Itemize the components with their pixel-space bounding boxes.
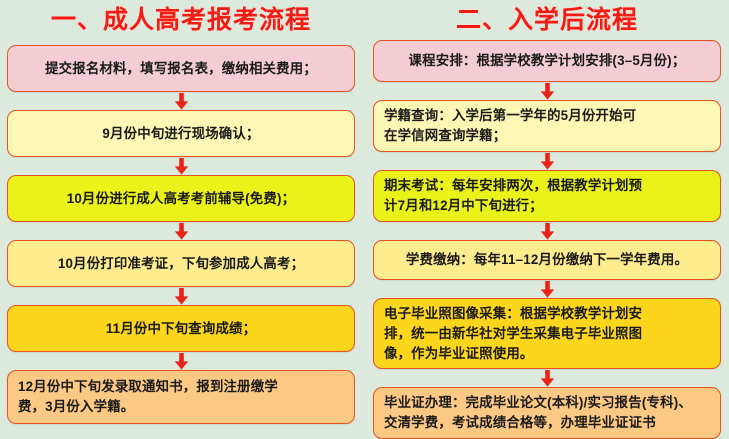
step-box-december-admission-notice: 12月份中下旬发录取通知书，报到注册缴学 费，3月份入学籍。 (7, 370, 355, 424)
step-box-september-onsite-confirmation: 9月份中旬进行现场确认； (7, 110, 355, 157)
flow-arrow-down-icon (373, 222, 721, 240)
flow-arrow-down-icon (373, 280, 721, 298)
flow-column-post-enrollment-process: 二、入学后流程课程安排：根据学校教学计划安排(3–5月份)；学籍查询：入学后第一… (364, 0, 728, 431)
step-box-october-pre-exam-tutoring: 10月份进行成人高考考前辅导(免费)； (7, 175, 355, 222)
flow-column-adult-college-entrance-exam-application-process: 一、成人高考报考流程提交报名材料，填写报名表，缴纳相关费用；9月份中旬进行现场确… (0, 0, 364, 431)
column-title: 二、入学后流程 (373, 8, 721, 33)
flow-arrow-down-icon (7, 222, 355, 240)
flow-arrow-down-icon (7, 287, 355, 305)
step-box-graduation-certificate-processing: 毕业证办理：完成毕业论文(本科)/实习报告(专科)、 交清学费，考试成绩合格等，… (373, 387, 721, 439)
flowchart-container: 一、成人高考报考流程提交报名材料，填写报名表，缴纳相关费用；9月份中旬进行现场确… (0, 0, 729, 431)
step-box-electronic-graduation-photo: 电子毕业照图像采集：根据学校教学计划安 排，统一由新华社对学生采集电子毕业照图 … (373, 298, 721, 369)
step-box-submit-materials: 提交报名材料，填写报名表，缴纳相关费用； (7, 45, 355, 92)
flow-arrow-down-icon (373, 152, 721, 170)
flow-arrow-down-icon (7, 92, 355, 110)
column-bottom-spacer (7, 424, 355, 431)
flow-arrow-down-icon (7, 352, 355, 370)
flow-arrow-down-icon (373, 82, 721, 100)
step-box-tuition-payment: 学费缴纳：每年11–12月份缴纳下一学年费用。 (373, 240, 721, 280)
flow-arrow-down-icon (7, 157, 355, 175)
step-box-november-check-scores: 11月份中下旬查询成绩； (7, 305, 355, 352)
column-title: 一、成人高考报考流程 (7, 8, 355, 38)
step-box-student-status-inquiry: 学籍查询：入学后第一学年的5月份开始可 在学信网查询学籍； (373, 100, 721, 152)
flow-arrow-down-icon (373, 369, 721, 387)
step-box-october-print-admission-ticket: 10月份打印准考证，下旬参加成人高考； (7, 240, 355, 287)
step-box-final-exams: 期末考试：每年安排两次，根据教学计划预 计7月和12月中下旬进行； (373, 170, 721, 222)
step-box-course-arrangement: 课程安排：根据学校教学计划安排(3–5月份)； (373, 40, 721, 82)
